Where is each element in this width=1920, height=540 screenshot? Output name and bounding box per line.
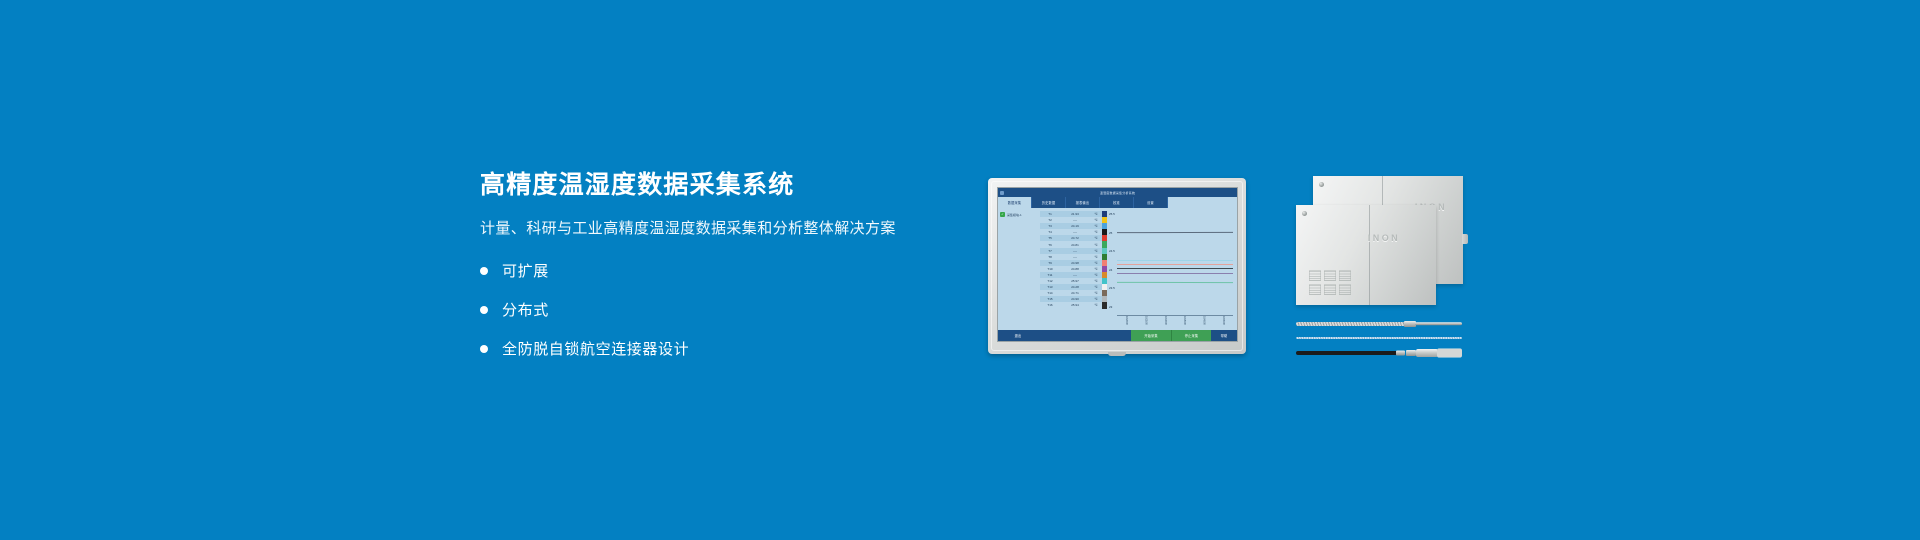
list-item: 全防脱自锁航空连接器设计 bbox=[480, 338, 950, 359]
cell-channel: T6 bbox=[1040, 243, 1060, 247]
feature-label: 全防脱自锁航空连接器设计 bbox=[502, 338, 689, 359]
y-tick-label: 23 bbox=[1109, 305, 1115, 309]
enclosure-mount-tab bbox=[1462, 234, 1468, 244]
cell-value: ---- bbox=[1060, 230, 1090, 234]
bullet-icon bbox=[480, 267, 488, 275]
cell-value: 24.88 bbox=[1060, 267, 1090, 271]
y-tick-label: 23.5 bbox=[1109, 286, 1115, 290]
tab-data-acquisition[interactable]: 数据采集 bbox=[998, 197, 1032, 208]
trend-line bbox=[1117, 268, 1233, 269]
list-item: 分布式 bbox=[480, 299, 950, 320]
x-tick-label: 10:40:00 bbox=[1202, 316, 1205, 326]
probe-connector-nut bbox=[1406, 350, 1416, 356]
cell-unit: ℃ bbox=[1090, 261, 1102, 265]
x-tick-label: 10:30:00 bbox=[1164, 316, 1167, 326]
module-tree: ✓ 采集模块-1 bbox=[998, 208, 1040, 330]
cell-channel: T5 bbox=[1040, 236, 1060, 240]
cell-value: 24.71 bbox=[1060, 291, 1090, 295]
chart-y-axis: 25.52524.52423.523 bbox=[1109, 212, 1115, 323]
feature-label: 分布式 bbox=[502, 299, 549, 320]
bullet-icon bbox=[480, 345, 488, 353]
x-tick-label: 10:25:00 bbox=[1144, 316, 1147, 326]
software-body: ✓ 采集模块-1 T121.93℃T2----℃T324.19℃T4----℃T… bbox=[998, 208, 1237, 330]
cell-channel: T14 bbox=[1040, 291, 1060, 295]
connector-port bbox=[1339, 284, 1351, 295]
cell-unit: ℃ bbox=[1090, 249, 1102, 253]
cell-value: 24.72 bbox=[1060, 236, 1090, 240]
y-tick-label: 25 bbox=[1109, 231, 1115, 235]
channel-table: T121.93℃T2----℃T324.19℃T4----℃T524.72℃T6… bbox=[1040, 208, 1102, 330]
humidity-probe-with-filter bbox=[1296, 348, 1462, 358]
chart-plot-area bbox=[1117, 212, 1233, 314]
x-tick-label: 10:20:00 bbox=[1125, 316, 1128, 326]
cell-unit: ℃ bbox=[1090, 291, 1102, 295]
cell-value: 25.94 bbox=[1060, 303, 1090, 307]
x-tick-label: 10:45:00 bbox=[1222, 316, 1225, 326]
y-tick-label: 24 bbox=[1109, 268, 1115, 272]
cell-unit: ℃ bbox=[1090, 218, 1102, 222]
cell-unit: ℃ bbox=[1090, 236, 1102, 240]
cell-channel: T10 bbox=[1040, 267, 1060, 271]
software-footer: 退出 开始采集 停止采集 帮助 bbox=[998, 330, 1237, 341]
banner-copy: 高精度温湿度数据采集系统 计量、科研与工业高精度温湿度数据采集和分析整体解决方案… bbox=[480, 170, 950, 377]
footer-spacer bbox=[1038, 330, 1131, 341]
thin-wire-probe bbox=[1296, 336, 1462, 340]
cell-channel: T16 bbox=[1040, 303, 1060, 307]
page-subtitle: 计量、科研与工业高精度温湿度数据采集和分析整体解决方案 bbox=[480, 217, 950, 238]
cell-value: 24.81 bbox=[1060, 243, 1090, 247]
y-tick-label: 24.5 bbox=[1109, 249, 1115, 253]
connector-port bbox=[1309, 270, 1321, 281]
cell-unit: ℃ bbox=[1090, 243, 1102, 247]
trend-line bbox=[1117, 232, 1233, 233]
panel-pc-device: 温湿度数据采集分析系统 数据采集 历史数据 报表输出 校准 设置 ✓ 采集模块-… bbox=[988, 178, 1246, 354]
cell-unit: ℃ bbox=[1090, 212, 1102, 216]
exit-button[interactable]: 退出 bbox=[998, 330, 1038, 341]
cell-value: 25.97 bbox=[1060, 279, 1090, 283]
probe-black-cable bbox=[1296, 351, 1400, 355]
trend-line bbox=[1117, 264, 1233, 265]
cell-unit: ℃ bbox=[1090, 285, 1102, 289]
cell-channel: T4 bbox=[1040, 230, 1060, 234]
connector-panel bbox=[1309, 270, 1351, 295]
cell-channel: T3 bbox=[1040, 224, 1060, 228]
braided-temperature-probe bbox=[1296, 320, 1462, 327]
cell-value: 24.90 bbox=[1060, 297, 1090, 301]
screw-icon bbox=[1319, 182, 1324, 187]
software-titlebar: 温湿度数据采集分析系统 bbox=[998, 188, 1237, 197]
cell-value: 24.19 bbox=[1060, 224, 1090, 228]
probe-thin-cable bbox=[1296, 337, 1462, 339]
trend-line bbox=[1117, 282, 1233, 283]
cell-value: ---- bbox=[1060, 249, 1090, 253]
tabbar-filler bbox=[1168, 197, 1237, 208]
tree-node-label: 采集模块-1 bbox=[1007, 213, 1022, 217]
cell-channel: T12 bbox=[1040, 279, 1060, 283]
start-acquisition-button[interactable]: 开始采集 bbox=[1131, 330, 1171, 341]
window-menu-icon[interactable] bbox=[1000, 191, 1004, 195]
cell-unit: ℃ bbox=[1090, 230, 1102, 234]
cell-value: ---- bbox=[1060, 273, 1090, 277]
connected-icon: ✓ bbox=[1000, 212, 1005, 217]
probe-sintered-filter bbox=[1437, 349, 1462, 358]
probe-tip bbox=[1415, 322, 1462, 325]
cell-unit: ℃ bbox=[1090, 303, 1102, 307]
brand-logo: INON bbox=[1368, 233, 1400, 243]
probe-barrel bbox=[1416, 349, 1438, 357]
screw-icon bbox=[1302, 211, 1307, 216]
probe-braided-cable bbox=[1296, 322, 1408, 326]
stop-acquisition-button[interactable]: 停止采集 bbox=[1171, 330, 1211, 341]
cell-value: ---- bbox=[1060, 255, 1090, 259]
page-title: 高精度温湿度数据采集系统 bbox=[480, 170, 950, 200]
trend-line bbox=[1117, 260, 1233, 261]
y-tick-label: 25.5 bbox=[1109, 212, 1115, 216]
cell-unit: ℃ bbox=[1090, 273, 1102, 277]
trend-line bbox=[1117, 273, 1233, 274]
cell-channel: T8 bbox=[1040, 255, 1060, 259]
cell-unit: ℃ bbox=[1090, 255, 1102, 259]
panel-pc-screen: 温湿度数据采集分析系统 数据采集 历史数据 报表输出 校准 设置 ✓ 采集模块-… bbox=[997, 187, 1238, 342]
connector-port bbox=[1324, 284, 1336, 295]
cell-value: 21.93 bbox=[1060, 212, 1090, 216]
connector-port bbox=[1324, 270, 1336, 281]
cell-value: 24.28 bbox=[1060, 285, 1090, 289]
cell-value: ---- bbox=[1060, 218, 1090, 222]
software-window-title: 温湿度数据采集分析系统 bbox=[1100, 191, 1135, 195]
trend-chart: 25.52524.52423.523 10:20:0010:25:0010:30… bbox=[1107, 208, 1237, 330]
product-banner: 高精度温湿度数据采集系统 计量、科研与工业高精度温湿度数据采集和分析整体解决方案… bbox=[0, 0, 1920, 540]
cell-unit: ℃ bbox=[1090, 224, 1102, 228]
cell-channel: T2 bbox=[1040, 218, 1060, 222]
cell-channel: T9 bbox=[1040, 261, 1060, 265]
feature-list: 可扩展 分布式 全防脱自锁航空连接器设计 bbox=[480, 260, 950, 359]
x-tick-label: 10:35:00 bbox=[1183, 316, 1186, 326]
tab-calibration[interactable]: 校准 bbox=[1100, 197, 1134, 208]
probe-strain-relief bbox=[1396, 351, 1405, 356]
cell-channel: T13 bbox=[1040, 285, 1060, 289]
tab-report[interactable]: 报表输出 bbox=[1066, 197, 1100, 208]
cell-channel: T1 bbox=[1040, 212, 1060, 216]
panel-pc-stand bbox=[1108, 352, 1126, 356]
list-item: 可扩展 bbox=[480, 260, 950, 281]
connector-port bbox=[1309, 284, 1321, 295]
bullet-icon bbox=[480, 306, 488, 314]
chart-x-axis: 10:20:0010:25:0010:30:0010:35:0010:40:00… bbox=[1117, 315, 1233, 326]
connector-port bbox=[1339, 270, 1351, 281]
cell-unit: ℃ bbox=[1090, 267, 1102, 271]
enclosure-front: INON bbox=[1296, 205, 1436, 305]
cell-value: 24.98 bbox=[1060, 261, 1090, 265]
cell-unit: ℃ bbox=[1090, 297, 1102, 301]
tree-node-module[interactable]: ✓ 采集模块-1 bbox=[1000, 212, 1038, 217]
enclosure-seam bbox=[1369, 205, 1370, 305]
tab-history[interactable]: 历史数据 bbox=[1032, 197, 1066, 208]
feature-label: 可扩展 bbox=[502, 260, 549, 281]
cell-channel: T11 bbox=[1040, 273, 1060, 277]
tab-settings[interactable]: 设置 bbox=[1134, 197, 1168, 208]
table-row[interactable]: T1625.94℃ bbox=[1040, 302, 1102, 308]
software-tabbar: 数据采集 历史数据 报表输出 校准 设置 bbox=[998, 197, 1237, 208]
cell-channel: T7 bbox=[1040, 249, 1060, 253]
cell-unit: ℃ bbox=[1090, 279, 1102, 283]
help-button[interactable]: 帮助 bbox=[1211, 330, 1237, 341]
cell-channel: T15 bbox=[1040, 297, 1060, 301]
